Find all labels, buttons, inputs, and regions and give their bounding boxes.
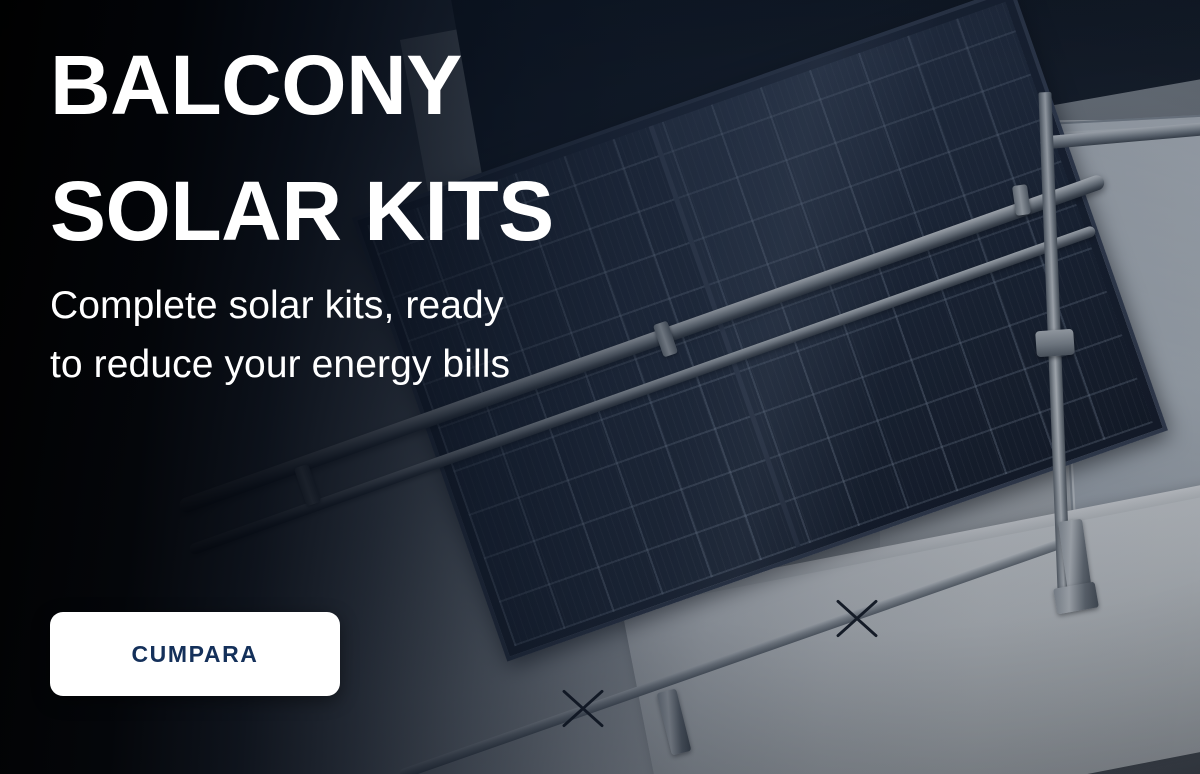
page-title: BALCONY SOLAR KITS [50, 22, 670, 274]
headline-line-2: SOLAR KITS [50, 148, 670, 274]
hero-subtitle: Complete solar kits, ready to reduce you… [50, 276, 520, 394]
hero-banner: BALCONY SOLAR KITS Complete solar kits, … [0, 0, 1200, 774]
buy-button[interactable]: CUMPARA [50, 612, 340, 696]
hero-content: BALCONY SOLAR KITS Complete solar kits, … [50, 0, 690, 774]
headline-line-1: BALCONY [50, 22, 670, 148]
railing-clamp [1035, 329, 1075, 358]
